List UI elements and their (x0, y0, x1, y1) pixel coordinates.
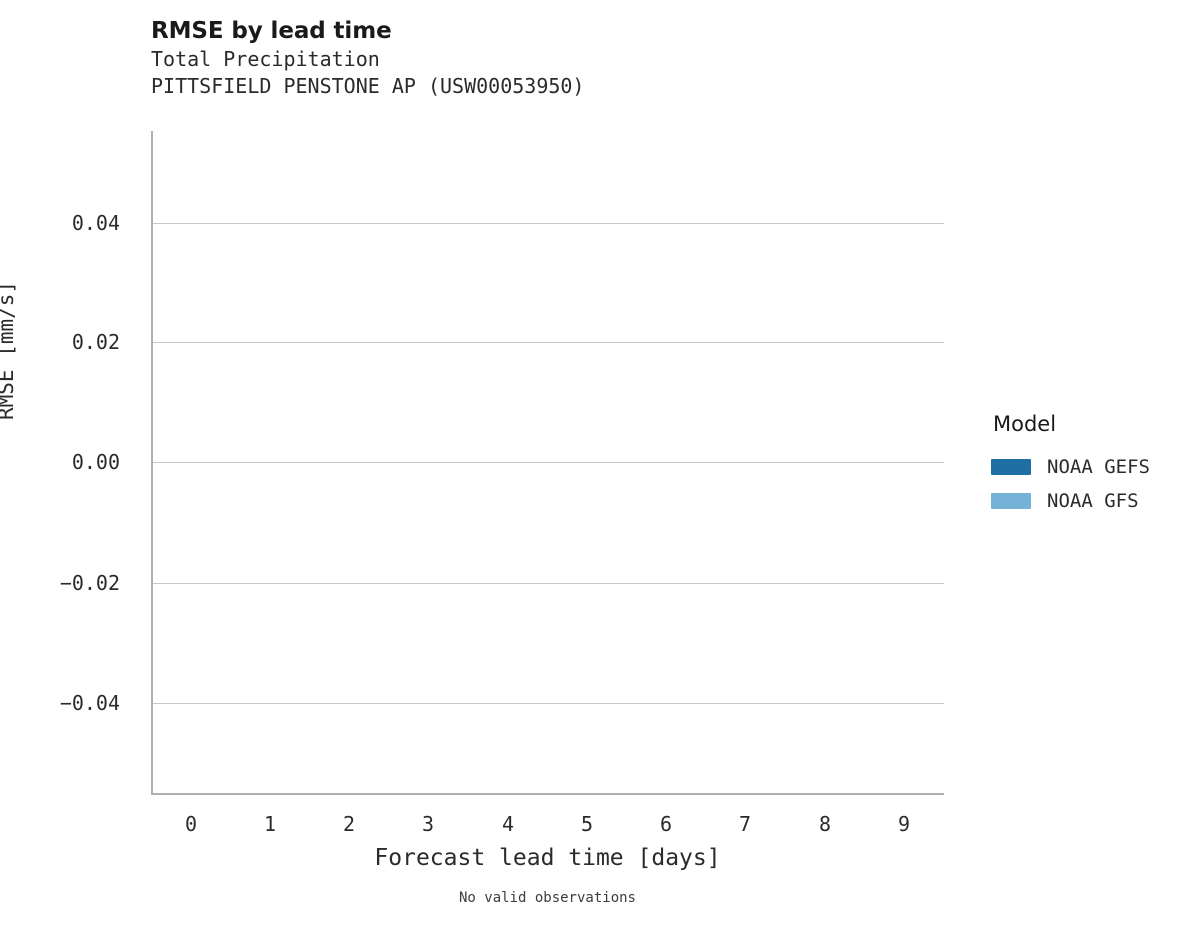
legend: Model NOAA GEFS NOAA GFS (991, 412, 1181, 518)
gridline--0.02 (153, 583, 944, 584)
x-tick-label-3: 3 (398, 812, 458, 836)
gridline-0.00 (153, 462, 944, 463)
x-tick-label-6: 6 (636, 812, 696, 836)
x-tick-label-2: 2 (319, 812, 379, 836)
x-tick-label-5: 5 (557, 812, 617, 836)
legend-item-noaa-gefs[interactable]: NOAA GEFS (991, 450, 1181, 484)
page-title: RMSE by lead time (151, 16, 951, 46)
legend-swatch-icon (991, 459, 1031, 475)
y-tick-label-3: −0.02 (0, 571, 120, 595)
x-tick-label-0: 0 (161, 812, 221, 836)
y-tick-label-0: 0.04 (0, 211, 120, 235)
gridline-0.02 (153, 342, 944, 343)
x-tick-label-8: 8 (795, 812, 855, 836)
x-axis-title: Forecast lead time [days] (151, 845, 944, 871)
legend-title: Model (993, 412, 1181, 436)
gridline--0.04 (153, 703, 944, 704)
gridline-0.04 (153, 223, 944, 224)
y-tick-label-2: 0.00 (0, 450, 120, 474)
y-tick-label-4: −0.04 (0, 691, 120, 715)
chart-figure: RMSE by lead time Total Precipitation PI… (0, 0, 1182, 928)
legend-swatch-icon (991, 493, 1031, 509)
chart-subtitle-station: PITTSFIELD PENSTONE AP (USW00053950) (151, 73, 951, 100)
x-tick-label-1: 1 (240, 812, 300, 836)
legend-label: NOAA GFS (1047, 490, 1139, 512)
no-data-caption: No valid observations (151, 890, 944, 906)
chart-subtitle-variable: Total Precipitation (151, 46, 951, 73)
y-tick-label-1: 0.02 (0, 330, 120, 354)
x-tick-label-9: 9 (874, 812, 934, 836)
x-tick-label-4: 4 (478, 812, 538, 836)
x-tick-label-7: 7 (715, 812, 775, 836)
legend-label: NOAA GEFS (1047, 456, 1150, 478)
plot-area (151, 131, 944, 795)
legend-item-noaa-gfs[interactable]: NOAA GFS (991, 484, 1181, 518)
title-block: RMSE by lead time Total Precipitation PI… (151, 16, 951, 100)
